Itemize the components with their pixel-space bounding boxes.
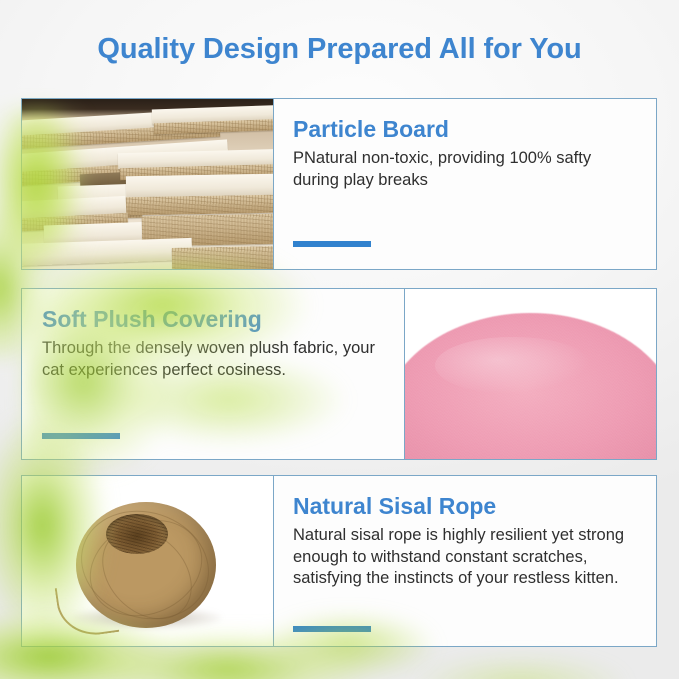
sisal-rope-content: Natural Sisal Rope Natural sisal rope is… (273, 476, 656, 646)
card-text-soft-plush-covering: Through the densely woven plush fabric, … (42, 338, 377, 381)
feature-card-particle-board: Particle Board PNatural non-toxic, provi… (21, 98, 657, 270)
rope-loose-end (55, 580, 120, 640)
sisal-rope-ball-photo (22, 476, 273, 646)
card-divider (273, 99, 274, 269)
card-text-natural-sisal-rope: Natural sisal rope is highly resilient y… (293, 525, 636, 589)
card-heading-natural-sisal-rope: Natural Sisal Rope (293, 494, 636, 519)
particle-board-image (22, 99, 273, 269)
soft-plush-content: Soft Plush Covering Through the densely … (22, 289, 405, 459)
card-divider (404, 289, 405, 459)
card-divider (273, 476, 274, 646)
sisal-rope-image (22, 476, 273, 646)
plush-fabric-sheen (435, 337, 591, 395)
card-heading-particle-board: Particle Board (293, 117, 636, 142)
feature-card-natural-sisal-rope: Natural Sisal Rope Natural sisal rope is… (21, 475, 657, 647)
feature-card-soft-plush-covering: Soft Plush Covering Through the densely … (21, 288, 657, 460)
particle-board-photo (22, 99, 273, 269)
card-text-particle-board: PNatural non-toxic, providing 100% safty… (293, 148, 628, 191)
accent-bar (293, 626, 371, 632)
accent-bar (293, 241, 371, 247)
pink-plush-fabric-photo (405, 289, 656, 459)
card-heading-soft-plush-covering: Soft Plush Covering (42, 307, 385, 332)
accent-bar (42, 433, 120, 439)
infographic-page: Quality Design Prepared All for You (0, 0, 679, 679)
particle-board-content: Particle Board PNatural non-toxic, provi… (273, 99, 656, 269)
page-title: Quality Design Prepared All for You (0, 33, 679, 66)
plush-fabric-image (405, 289, 656, 459)
